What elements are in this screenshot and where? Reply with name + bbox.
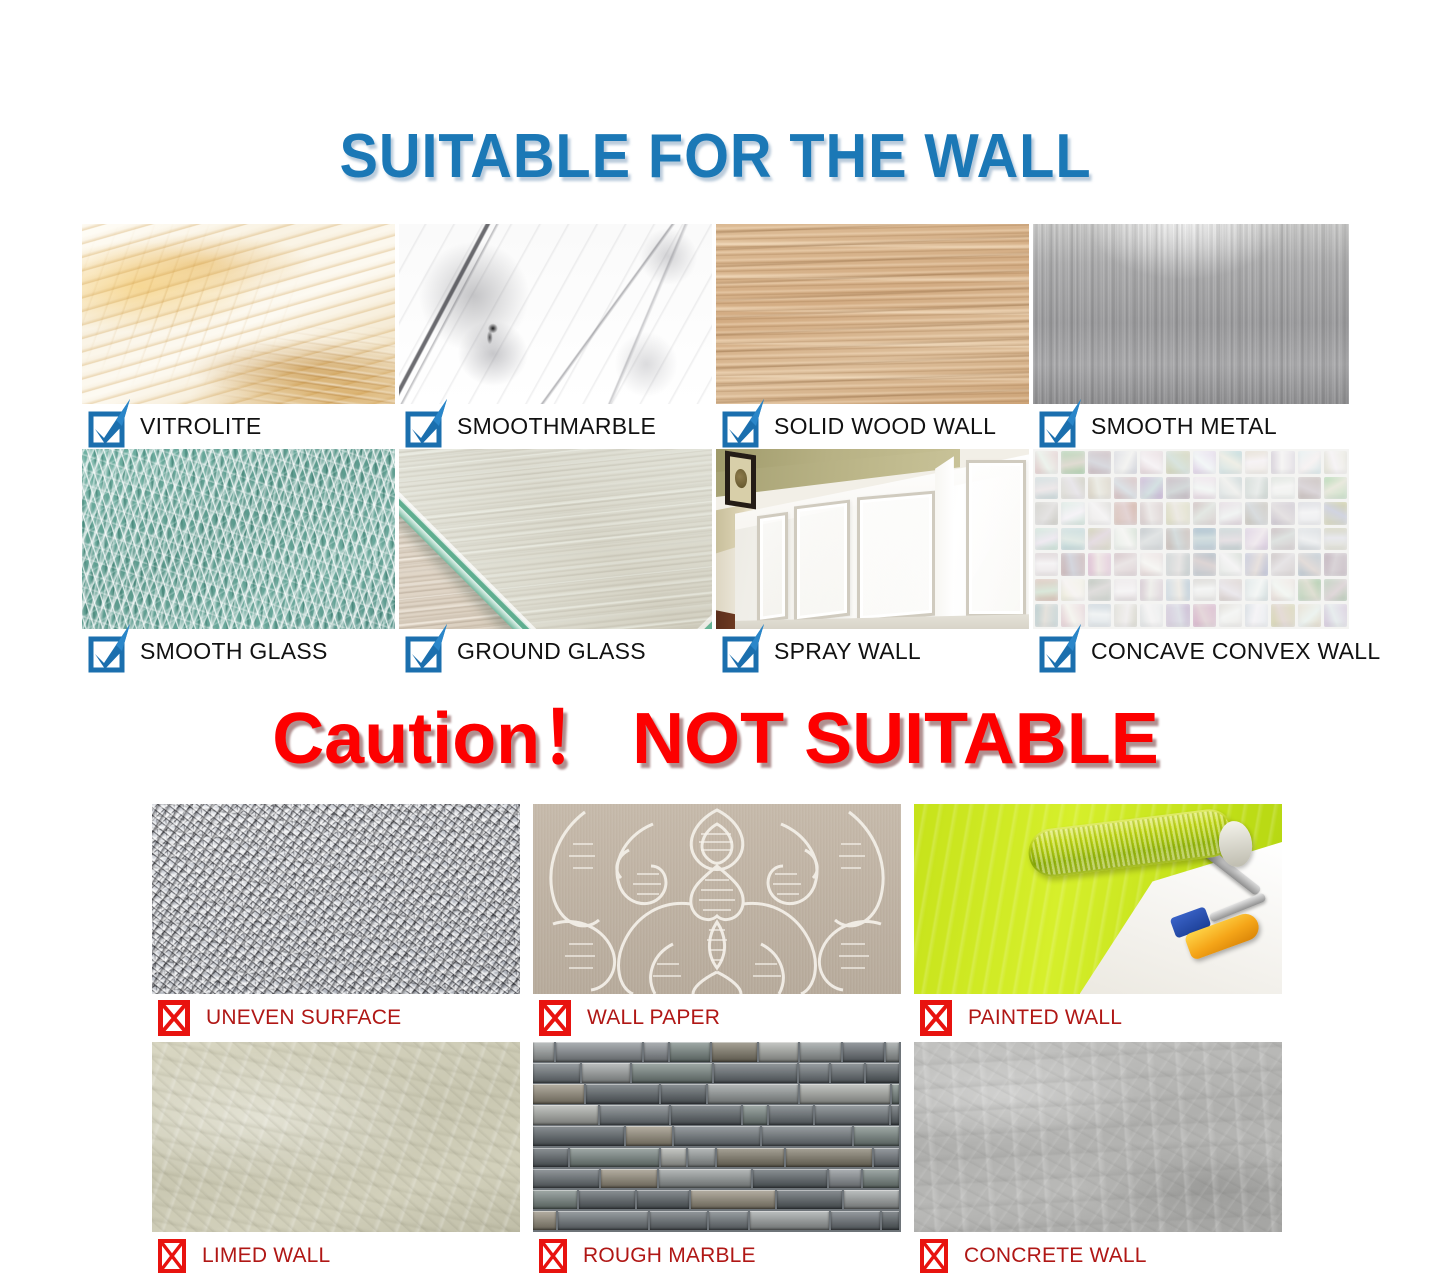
mosaic-tile [1061, 451, 1084, 474]
suitable-row-1: VITROLITE SMOOTHMARBLE [82, 224, 1350, 449]
not-suitable-row-2: LIMED WALL ROUGH MARBLE [152, 1042, 1282, 1280]
stone-block [600, 1105, 669, 1125]
mosaic-tile [1035, 579, 1058, 602]
stone-block [650, 1211, 707, 1231]
caption: SPRAY WALL [716, 629, 1029, 674]
suitable-item-smooth-metal[interactable]: SMOOTH METAL [1033, 224, 1349, 449]
stone-block [714, 1063, 797, 1083]
mosaic-tile [1219, 502, 1242, 525]
stone-block [601, 1169, 657, 1189]
mosaic-tile [1035, 477, 1058, 500]
stone-block [777, 1190, 842, 1210]
mosaic-tile [1166, 477, 1189, 500]
not-suitable-item-uneven-surface[interactable]: UNEVEN SURFACE [152, 804, 520, 1042]
mosaic-tile [1219, 528, 1242, 551]
checkbox-checked-icon [90, 410, 124, 444]
mosaic-tile [1193, 579, 1216, 602]
not-suitable-surfaces-grid: UNEVEN SURFACE [152, 804, 1282, 1280]
stone-block [691, 1190, 775, 1210]
caption: CONCRETE WALL [914, 1232, 1282, 1280]
stone-block [671, 1105, 742, 1125]
mosaic-tile [1193, 451, 1216, 474]
plain-grey-concrete-swatch [914, 1042, 1282, 1232]
stone-block [659, 1169, 751, 1189]
checkbox-crossed-icon [158, 1000, 190, 1036]
mosaic-tile [1298, 502, 1321, 525]
mosaic-tile [1245, 604, 1268, 627]
checkbox-checked-icon [90, 635, 124, 669]
checkbox-checked-icon [407, 410, 441, 444]
rough-speckled-concrete-swatch [152, 804, 520, 994]
mosaic-tile [1088, 553, 1111, 576]
mosaic-tile [1166, 451, 1189, 474]
framed-picture [725, 450, 756, 509]
mosaic-tile [1324, 528, 1347, 551]
stone-course [533, 1063, 901, 1083]
wainscot-panel [966, 460, 1025, 617]
damask-pattern [533, 804, 901, 994]
stone-block [632, 1063, 712, 1083]
stone-block [843, 1042, 884, 1062]
checkbox-checked-icon [1041, 410, 1075, 444]
mosaic-tile [1114, 604, 1137, 627]
suitable-item-spray-wall[interactable]: SPRAY WALL [716, 449, 1029, 674]
mosaic-tile [1035, 502, 1058, 525]
suitable-item-label: GROUND GLASS [457, 638, 646, 665]
mosaic-tile [1324, 451, 1347, 474]
stone-block [533, 1190, 577, 1210]
checkbox-crossed-icon [539, 1239, 567, 1273]
mosaic-tile [1219, 477, 1242, 500]
stone-block [891, 1105, 899, 1125]
mosaic-tile [1245, 528, 1268, 551]
wainscot-panel [857, 491, 935, 623]
stone-block [626, 1126, 672, 1146]
stone-block [786, 1148, 872, 1168]
stone-block [533, 1042, 554, 1062]
suitable-item-label: CONCAVE CONVEX WALL [1091, 638, 1380, 665]
mosaic-tile [1193, 604, 1216, 627]
wainscot-panel [794, 500, 850, 623]
mosaic-tile [1271, 502, 1294, 525]
mosaic-tile [1061, 579, 1084, 602]
caption: LIMED WALL [152, 1232, 520, 1280]
stone-block [533, 1211, 556, 1231]
stone-course [533, 1126, 901, 1146]
suitable-item-ground-glass[interactable]: GROUND GLASS [399, 449, 712, 674]
mosaic-tile [1114, 553, 1137, 576]
mosaic-tile [1245, 553, 1268, 576]
mosaic-tile [1140, 579, 1163, 602]
mosaic-tile [1245, 477, 1268, 500]
pale-limewash-stucco-swatch [152, 1042, 520, 1232]
caption: CONCAVE CONVEX WALL [1033, 629, 1349, 674]
page-title-caution: Caution！ NOT SUITABLE [0, 698, 1431, 780]
stone-block [799, 1063, 830, 1083]
mosaic-tile [1140, 528, 1163, 551]
mosaic-tile [1035, 451, 1058, 474]
stone-block [661, 1084, 706, 1104]
caption: WALL PAPER [533, 994, 901, 1042]
suitable-item-label: SMOOTH METAL [1091, 413, 1277, 440]
stone-course [533, 1190, 901, 1210]
vitrolite-onyx-marble-swatch [82, 224, 395, 404]
suitable-item-smoothmarble[interactable]: SMOOTHMARBLE [399, 224, 712, 449]
laminated-glass-pane-swatch [399, 449, 712, 629]
checkbox-crossed-icon [539, 1000, 571, 1036]
not-suitable-item-label: WALL PAPER [587, 1006, 720, 1030]
not-suitable-item-painted-wall[interactable]: PAINTED WALL [914, 804, 1282, 1042]
mosaic-tile [1061, 477, 1084, 500]
not-suitable-item-label: LIMED WALL [202, 1244, 330, 1268]
mosaic-tile [1061, 528, 1084, 551]
mosaic-tile [1166, 502, 1189, 525]
stone-block [533, 1169, 599, 1189]
brushed-metal-swatch [1033, 224, 1349, 404]
mosaic-tile [1140, 477, 1163, 500]
mosaic-tile [1088, 502, 1111, 525]
mosaic-tile [1271, 528, 1294, 551]
checkbox-checked-icon [724, 410, 758, 444]
stone-block [674, 1126, 760, 1146]
stone-block [644, 1042, 669, 1062]
mosaic-tile [1219, 579, 1242, 602]
wood-grain-swatch [716, 224, 1029, 404]
white-wainscot-wall-swatch [716, 449, 1029, 629]
mosaic-tile [1219, 553, 1242, 576]
mosaic-tile [1166, 604, 1189, 627]
not-suitable-item-rough-marble[interactable]: ROUGH MARBLE [533, 1042, 901, 1280]
stone-block [892, 1084, 899, 1104]
paint-roller-green-wall-swatch [914, 804, 1282, 994]
stone-course [533, 1084, 901, 1104]
not-suitable-item-label: PAINTED WALL [968, 1006, 1122, 1030]
suitable-item-label: VITROLITE [140, 413, 262, 440]
caption: SOLID WOOD WALL [716, 404, 1029, 449]
stone-block [844, 1190, 899, 1210]
mosaic-tile [1219, 451, 1242, 474]
wall-corner-column [935, 449, 954, 629]
mosaic-tile [1245, 579, 1268, 602]
stone-block [750, 1211, 829, 1231]
stone-block [688, 1148, 715, 1168]
page-title-suitable: SUITABLE FOR THE WALL [50, 124, 1381, 190]
mosaic-tile [1061, 553, 1084, 576]
checkbox-crossed-icon [920, 1239, 948, 1273]
stone-block [717, 1148, 784, 1168]
caption: UNEVEN SURFACE [152, 994, 520, 1042]
stone-course [533, 1169, 901, 1189]
stone-block [709, 1211, 748, 1231]
mosaic-tile [1114, 477, 1137, 500]
mosaic-tile [1271, 451, 1294, 474]
caption: VITROLITE [82, 404, 395, 449]
mosaic-tile [1088, 477, 1111, 500]
mosaic-tile [1140, 502, 1163, 525]
stone-block [854, 1126, 899, 1146]
mosaic-tile [1140, 604, 1163, 627]
stone-block [533, 1105, 598, 1125]
stone-block [769, 1105, 814, 1125]
stone-block [661, 1148, 686, 1168]
stone-block [762, 1126, 852, 1146]
stone-block [533, 1063, 580, 1083]
mosaic-tile [1324, 579, 1347, 602]
stone-block [866, 1063, 899, 1083]
mosaic-tile [1324, 604, 1347, 627]
checkbox-checked-icon [724, 635, 758, 669]
stone-block [637, 1190, 689, 1210]
mosaic-tile [1271, 604, 1294, 627]
teal-textured-glass-swatch [82, 449, 395, 629]
caption: SMOOTH GLASS [82, 629, 395, 674]
mosaic-tile [1298, 528, 1321, 551]
suitable-item-label: SOLID WOOD WALL [774, 413, 996, 440]
caption: ROUGH MARBLE [533, 1232, 901, 1280]
suitable-item-concave-convex-wall[interactable]: CONCAVE CONVEX WALL [1033, 449, 1349, 674]
stone-course [533, 1105, 901, 1125]
stacked-slate-ledger-stone-swatch [533, 1042, 901, 1232]
mosaic-tile [1271, 579, 1294, 602]
checkbox-crossed-icon [920, 1000, 952, 1036]
stone-block [556, 1042, 641, 1062]
stone-block [815, 1105, 889, 1125]
not-suitable-row-1: UNEVEN SURFACE [152, 804, 1282, 1042]
damask-wallpaper-swatch [533, 804, 901, 994]
stone-block [533, 1126, 624, 1146]
stone-course [533, 1211, 901, 1231]
mosaic-tile [1166, 579, 1189, 602]
stone-course [533, 1148, 901, 1168]
not-suitable-item-label: UNEVEN SURFACE [206, 1006, 401, 1030]
caption: GROUND GLASS [399, 629, 712, 674]
suitable-item-label: SPRAY WALL [774, 638, 921, 665]
not-suitable-item-wall-paper[interactable]: WALL PAPER [533, 804, 901, 1042]
stone-block [831, 1211, 880, 1231]
stone-block [712, 1042, 757, 1062]
mosaic-tile [1324, 553, 1347, 576]
mosaic-tile [1193, 502, 1216, 525]
suitable-item-solid-wood-wall[interactable]: SOLID WOOD WALL [716, 224, 1029, 449]
stone-block [670, 1042, 710, 1062]
stone-course [533, 1042, 901, 1062]
wainscot-panel [757, 512, 788, 623]
stone-block [533, 1084, 584, 1104]
mosaic-tile [1324, 502, 1347, 525]
stone-block [831, 1063, 864, 1083]
mosaic-tile [1088, 528, 1111, 551]
mosaic-tile [1088, 604, 1111, 627]
mosaic-tile [1271, 477, 1294, 500]
mosaic-tile [1114, 451, 1137, 474]
not-suitable-item-concrete-wall[interactable]: CONCRETE WALL [914, 1042, 1282, 1280]
mosaic-tile [1298, 477, 1321, 500]
mosaic-tile [1166, 553, 1189, 576]
caption: SMOOTH METAL [1033, 404, 1349, 449]
mosaic-tile [1140, 451, 1163, 474]
mosaic-tile [1298, 604, 1321, 627]
stone-block [874, 1148, 899, 1168]
stone-block [708, 1084, 798, 1104]
suitable-item-vitrolite[interactable]: VITROLITE [82, 224, 395, 449]
mosaic-tile [1271, 553, 1294, 576]
mosaic-tile [1088, 451, 1111, 474]
mosaic-tile [1245, 451, 1268, 474]
mosaic-tile [1061, 502, 1084, 525]
mosaic-tile [1193, 528, 1216, 551]
stone-block [863, 1169, 899, 1189]
stone-block [533, 1148, 568, 1168]
not-suitable-item-label: ROUGH MARBLE [583, 1244, 756, 1268]
mosaic-tile [1193, 553, 1216, 576]
suitable-item-smooth-glass[interactable]: SMOOTH GLASS [82, 449, 395, 674]
mosaic-tile [1193, 477, 1216, 500]
stone-block [882, 1211, 899, 1231]
mosaic-tile [1298, 553, 1321, 576]
mosaic-tile [1166, 528, 1189, 551]
suitable-item-label: SMOOTHMARBLE [457, 413, 656, 440]
mosaic-tile [1298, 451, 1321, 474]
mosaic-tile [1140, 553, 1163, 576]
stone-block [753, 1169, 827, 1189]
mosaic-tile [1114, 579, 1137, 602]
caption: SMOOTHMARBLE [399, 404, 712, 449]
stone-block [558, 1211, 648, 1231]
checkbox-checked-icon [407, 635, 441, 669]
iridescent-mosaic-tile-swatch [1033, 449, 1349, 629]
stone-block [579, 1190, 635, 1210]
mosaic-tile [1245, 502, 1268, 525]
stone-block [829, 1169, 861, 1189]
suitable-surfaces-grid: VITROLITE SMOOTHMARBLE [82, 224, 1350, 674]
suitable-row-2: SMOOTH GLASS GROUND GLASS [82, 449, 1350, 674]
suitable-item-label: SMOOTH GLASS [140, 638, 328, 665]
stone-block [800, 1084, 890, 1104]
checkbox-crossed-icon [158, 1239, 186, 1273]
mosaic-tile [1114, 528, 1137, 551]
mosaic-tile [1114, 502, 1137, 525]
stone-block [570, 1148, 659, 1168]
caption: PAINTED WALL [914, 994, 1282, 1042]
checkbox-checked-icon [1041, 635, 1075, 669]
white-marble-swatch [399, 224, 712, 404]
mosaic-tile [1219, 604, 1242, 627]
stone-block [743, 1105, 766, 1125]
stone-block [800, 1042, 841, 1062]
mosaic-tile [1324, 477, 1347, 500]
mosaic-tile [1035, 553, 1058, 576]
stone-block [582, 1063, 629, 1083]
mosaic-tile [1035, 528, 1058, 551]
stone-block [586, 1084, 659, 1104]
mosaic-tile [1298, 579, 1321, 602]
stone-block [759, 1042, 798, 1062]
mosaic-tile [1088, 579, 1111, 602]
stone-block [886, 1042, 899, 1062]
not-suitable-item-limed-wall[interactable]: LIMED WALL [152, 1042, 520, 1280]
not-suitable-item-label: CONCRETE WALL [964, 1244, 1147, 1268]
